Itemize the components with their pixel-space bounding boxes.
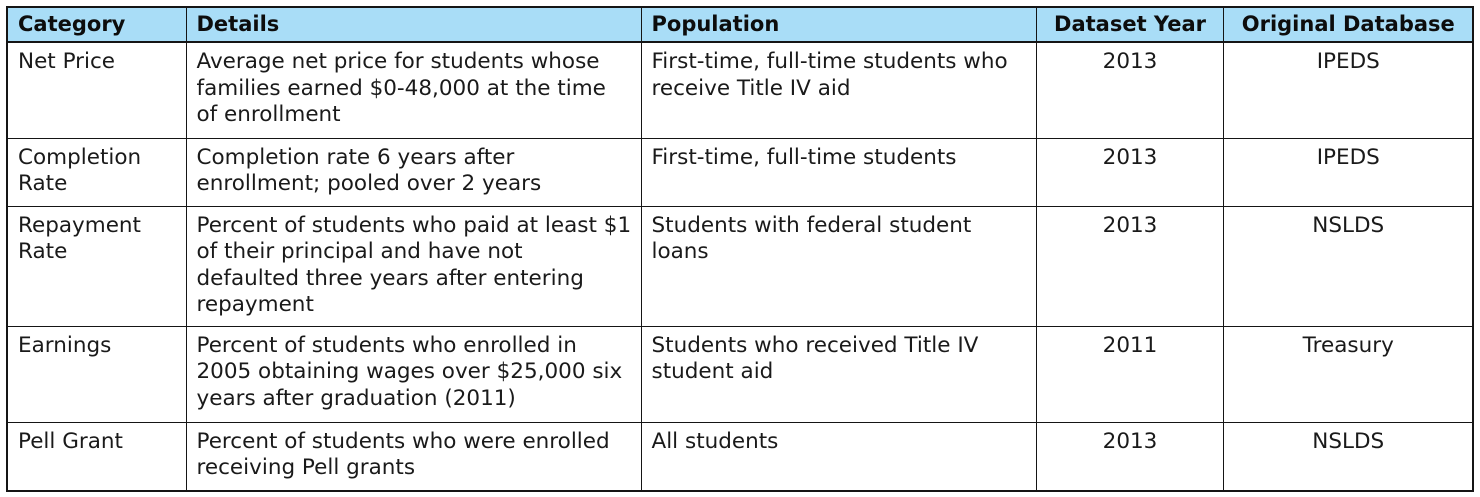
- cell-population: All students: [641, 422, 1036, 491]
- table-row: Pell Grant Percent of students who were …: [7, 422, 1473, 491]
- cell-category: Net Price: [7, 42, 186, 138]
- cell-category: Earnings: [7, 326, 186, 422]
- cell-details: Completion rate 6 years after enrollment…: [186, 138, 641, 206]
- table-row: Repayment Rate Percent of students who p…: [7, 206, 1473, 326]
- column-header-dataset-year: Dataset Year: [1036, 7, 1223, 42]
- header-row: Category Details Population Dataset Year…: [7, 7, 1473, 42]
- cell-original-database: NSLDS: [1223, 206, 1473, 326]
- cell-dataset-year: 2013: [1036, 422, 1223, 491]
- cell-population: Students who received Title IV student a…: [641, 326, 1036, 422]
- cell-dataset-year: 2013: [1036, 138, 1223, 206]
- column-header-population: Population: [641, 7, 1036, 42]
- cell-population: First-time, full-time students: [641, 138, 1036, 206]
- cell-population: Students with federal student loans: [641, 206, 1036, 326]
- cell-details: Percent of students who enrolled in 2005…: [186, 326, 641, 422]
- table-header: Category Details Population Dataset Year…: [7, 7, 1473, 42]
- cell-details: Average net price for students whose fam…: [186, 42, 641, 138]
- table-row: Earnings Percent of students who enrolle…: [7, 326, 1473, 422]
- column-header-original-database: Original Database: [1223, 7, 1473, 42]
- cell-original-database: Treasury: [1223, 326, 1473, 422]
- table-body: Net Price Average net price for students…: [7, 42, 1473, 491]
- cell-dataset-year: 2013: [1036, 206, 1223, 326]
- metrics-definition-table: Category Details Population Dataset Year…: [6, 6, 1474, 492]
- cell-dataset-year: 2013: [1036, 42, 1223, 138]
- column-header-category: Category: [7, 7, 186, 42]
- cell-category: Completion Rate: [7, 138, 186, 206]
- cell-population: First-time, full-time students who recei…: [641, 42, 1036, 138]
- cell-details: Percent of students who were enrolled re…: [186, 422, 641, 491]
- cell-original-database: IPEDS: [1223, 42, 1473, 138]
- table-row: Completion Rate Completion rate 6 years …: [7, 138, 1473, 206]
- cell-dataset-year: 2011: [1036, 326, 1223, 422]
- column-header-details: Details: [186, 7, 641, 42]
- cell-category: Pell Grant: [7, 422, 186, 491]
- table-container: Category Details Population Dataset Year…: [6, 6, 1472, 489]
- table-row: Net Price Average net price for students…: [7, 42, 1473, 138]
- cell-category: Repayment Rate: [7, 206, 186, 326]
- cell-original-database: NSLDS: [1223, 422, 1473, 491]
- cell-details: Percent of students who paid at least $1…: [186, 206, 641, 326]
- cell-original-database: IPEDS: [1223, 138, 1473, 206]
